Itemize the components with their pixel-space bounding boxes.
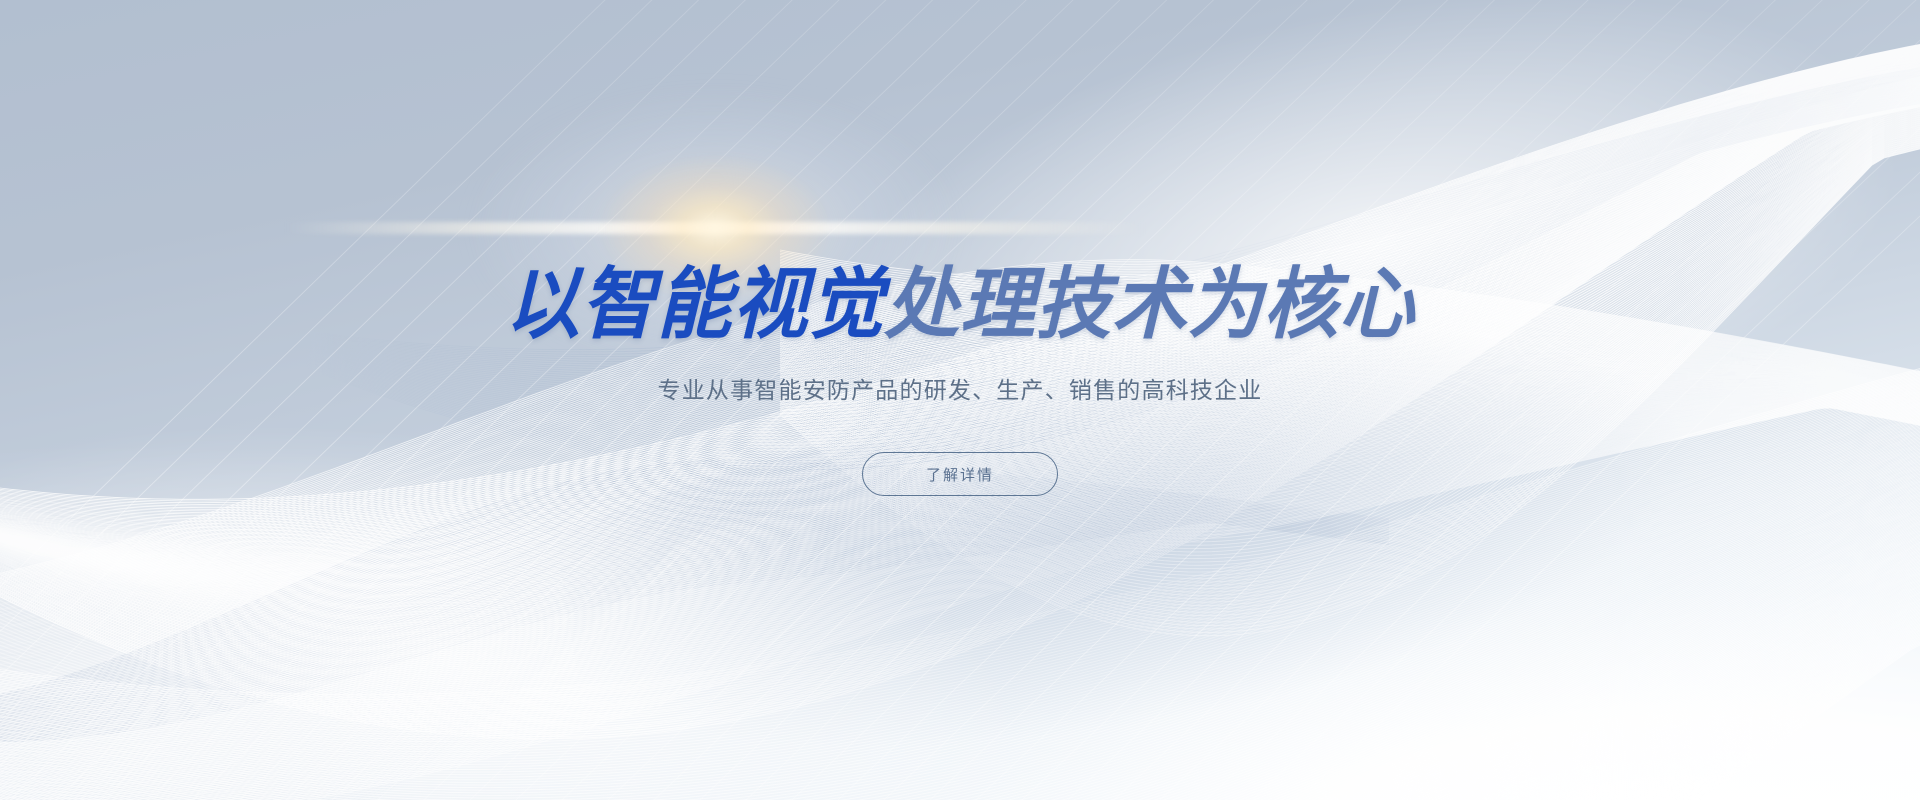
headline-highlight: 以智能视觉 (505, 260, 884, 348)
hero-subtitle: 专业从事智能安防产品的研发、生产、销售的高科技企业 (658, 374, 1263, 406)
hero-content: 以智能视觉处理技术为核心 专业从事智能安防产品的研发、生产、销售的高科技企业 了… (0, 0, 1920, 800)
hero-banner: 以智能视觉处理技术为核心 专业从事智能安防产品的研发、生产、销售的高科技企业 了… (0, 0, 1920, 800)
hero-headline: 以智能视觉处理技术为核心 (505, 262, 1415, 346)
learn-more-button[interactable]: 了解详情 (862, 452, 1058, 496)
learn-more-button-label: 了解详情 (926, 464, 994, 485)
headline-muted: 处理技术为核心 (884, 260, 1415, 348)
